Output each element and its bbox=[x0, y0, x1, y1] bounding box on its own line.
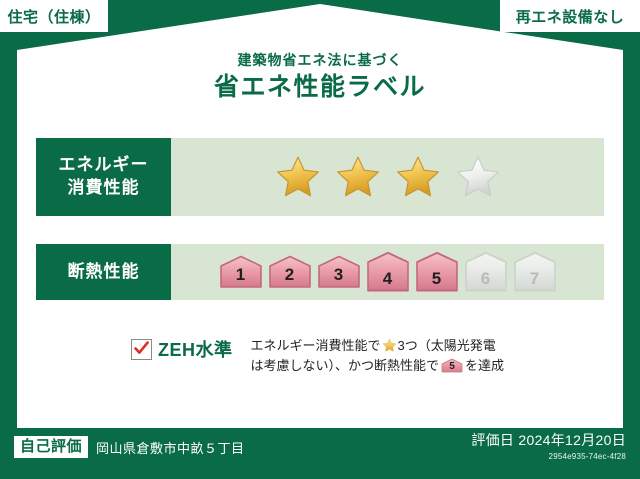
footer: 自己評価 岡山県倉敷市中畝５丁目 評価日 2024年12月20日 2954e93… bbox=[0, 428, 640, 479]
zeh-desc-part1: エネルギー消費性能で bbox=[251, 338, 381, 353]
page-title: 建築物省エネ法に基づく 省エネ性能ラベル bbox=[0, 52, 640, 103]
energy-label-line2: 消費性能 bbox=[68, 177, 140, 200]
insulation-grade-scale: 1234567 bbox=[171, 244, 604, 300]
zeh-badge: ZEH水準 bbox=[36, 336, 233, 362]
title-main: 省エネ性能ラベル bbox=[0, 72, 640, 103]
insulation-grade-value: 1 bbox=[236, 266, 245, 289]
insulation-grade-6: 6 bbox=[464, 251, 508, 293]
check-icon bbox=[133, 340, 150, 357]
insulation-grade-value: 7 bbox=[530, 270, 539, 293]
insulation-grade-value: 2 bbox=[285, 266, 294, 289]
insulation-grade-1: 1 bbox=[219, 255, 263, 289]
star-icon-filled bbox=[275, 154, 321, 200]
footer-left: 自己評価 岡山県倉敷市中畝５丁目 bbox=[14, 436, 245, 458]
insulation-grade-value: 4 bbox=[383, 270, 392, 293]
star-icon bbox=[382, 338, 397, 353]
energy-label-line1: エネルギー bbox=[59, 154, 149, 177]
badge-renewable-text: 再エネ設備なし bbox=[516, 6, 625, 27]
zeh-desc-part2: 3つ（太陽光発電 bbox=[398, 338, 496, 353]
star-icon-filled bbox=[395, 154, 441, 200]
badge-building-type: 住宅（住棟） bbox=[0, 0, 108, 32]
insulation-grade-value: 3 bbox=[334, 266, 343, 289]
insulation-grade-3: 3 bbox=[317, 255, 361, 289]
inline-grade-value: 5 bbox=[441, 358, 463, 373]
badge-building-type-text: 住宅（住棟） bbox=[7, 6, 100, 27]
star-icon-filled bbox=[335, 154, 381, 200]
insulation-label-line1: 断熱性能 bbox=[68, 261, 140, 284]
zeh-desc-part3: は考慮しない）、かつ断熱性能で bbox=[251, 358, 440, 373]
insulation-performance-label: 断熱性能 bbox=[36, 244, 171, 300]
energy-star-rating bbox=[171, 138, 604, 216]
insulation-grade-5: 5 bbox=[415, 251, 459, 293]
footer-right: 評価日 2024年12月20日 2954e935-74ec-4f28 bbox=[471, 431, 626, 461]
insulation-grade-value: 5 bbox=[432, 270, 441, 293]
title-subtitle: 建築物省エネ法に基づく bbox=[0, 52, 640, 69]
insulation-grade-4: 4 bbox=[366, 251, 410, 293]
zeh-desc-part4: を達成 bbox=[465, 358, 504, 373]
zeh-section: ZEH水準 エネルギー消費性能で3つ（太陽光発電 は考慮しない）、かつ断熱性能で… bbox=[36, 336, 604, 376]
energy-performance-row: エネルギー 消費性能 bbox=[36, 138, 604, 216]
inline-grade-badge: 5 bbox=[441, 358, 463, 373]
badge-renewable-equipment: 再エネ設備なし bbox=[500, 0, 640, 32]
evaluation-date: 評価日 2024年12月20日 bbox=[471, 431, 626, 451]
insulation-grade-value: 6 bbox=[481, 270, 490, 293]
insulation-performance-row: 断熱性能 1234567 bbox=[36, 244, 604, 300]
energy-performance-label: 住宅（住棟） 再エネ設備なし 建築物省エネ法に基づく 省エネ性能ラベル エネルギ… bbox=[0, 0, 640, 479]
zeh-label: ZEH水準 bbox=[158, 336, 233, 362]
zeh-description: エネルギー消費性能で3つ（太陽光発電 は考慮しない）、かつ断熱性能で5を達成 bbox=[251, 336, 505, 376]
insulation-grade-2: 2 bbox=[268, 255, 312, 289]
evaluation-kind-badge: 自己評価 bbox=[14, 436, 88, 458]
star-icon-empty bbox=[455, 154, 501, 200]
zeh-checkbox bbox=[131, 339, 152, 360]
evaluation-address: 岡山県倉敷市中畝５丁目 bbox=[96, 438, 245, 457]
energy-performance-label: エネルギー 消費性能 bbox=[36, 138, 171, 216]
insulation-grade-7: 7 bbox=[513, 251, 557, 293]
evaluation-id: 2954e935-74ec-4f28 bbox=[471, 452, 626, 461]
